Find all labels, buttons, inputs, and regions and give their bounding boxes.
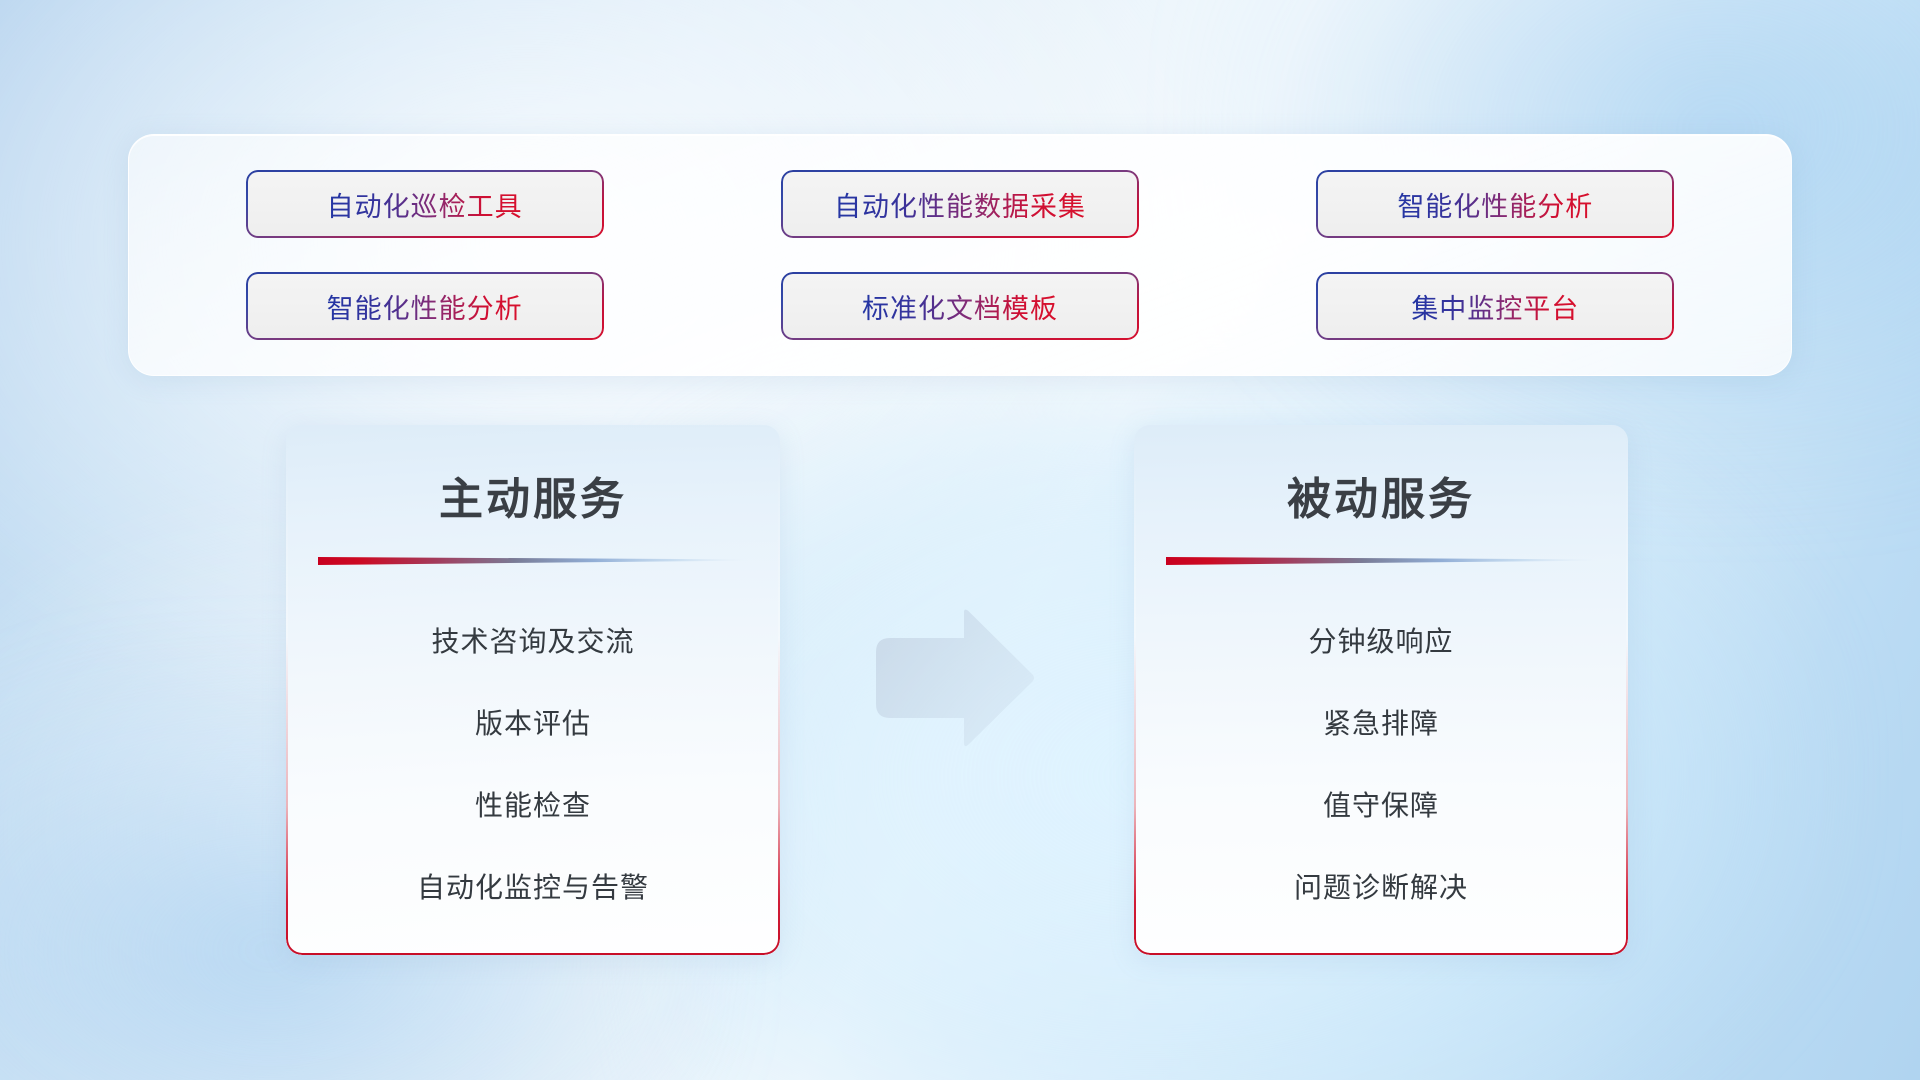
service-item: 问题诊断解决 — [1134, 845, 1628, 927]
arrow-right-icon — [868, 608, 1036, 748]
service-item: 版本评估 — [286, 681, 780, 763]
capability-tag-label: 集中监控平台 — [1411, 287, 1579, 326]
service-item: SLA式服务 — [1134, 927, 1628, 955]
capability-tag-label: 智能化性能分析 — [327, 287, 523, 326]
capability-tag-1[interactable]: 自动化巡检工具 — [246, 170, 604, 238]
service-item-list: 技术咨询及交流 版本评估 性能检查 自动化监控与告警 健康巡检 — [286, 599, 780, 955]
capability-tag-3[interactable]: 智能化性能分析 — [1316, 170, 1674, 238]
capability-tag-5[interactable]: 标准化文档模板 — [781, 272, 1139, 340]
capability-tag-panel: 自动化巡检工具 自动化性能数据采集 智能化性能分析 智能化性能分析 标准化文档模… — [128, 134, 1792, 376]
capability-tag-4[interactable]: 智能化性能分析 — [246, 272, 604, 340]
service-card-active[interactable]: 主动服务 技术咨询及交流 版本评估 性能检查 自动化监控与告警 健康巡检 — [286, 425, 780, 955]
card-title: 主动服务 — [286, 463, 780, 527]
capability-tag-label: 智能化性能分析 — [1397, 185, 1593, 224]
capability-tag-label: 标准化文档模板 — [862, 287, 1058, 326]
service-item: 值守保障 — [1134, 763, 1628, 845]
capability-tag-label: 自动化性能数据采集 — [834, 185, 1086, 224]
card-divider — [318, 555, 748, 565]
service-card-passive[interactable]: 被动服务 分钟级响应 紧急排障 值守保障 问题诊断解决 SLA式服务 — [1134, 425, 1628, 955]
card-title: 被动服务 — [1134, 463, 1628, 527]
service-item: 技术咨询及交流 — [286, 599, 780, 681]
capability-tag-label: 自动化巡检工具 — [327, 185, 523, 224]
service-item: 分钟级响应 — [1134, 599, 1628, 681]
service-item-list: 分钟级响应 紧急排障 值守保障 问题诊断解决 SLA式服务 — [1134, 599, 1628, 955]
service-item: 性能检查 — [286, 763, 780, 845]
capability-tag-2[interactable]: 自动化性能数据采集 — [781, 170, 1139, 238]
service-item: 自动化监控与告警 — [286, 845, 780, 927]
service-item: 健康巡检 — [286, 927, 780, 955]
card-divider — [1166, 555, 1596, 565]
service-item: 紧急排障 — [1134, 681, 1628, 763]
capability-tag-6[interactable]: 集中监控平台 — [1316, 272, 1674, 340]
